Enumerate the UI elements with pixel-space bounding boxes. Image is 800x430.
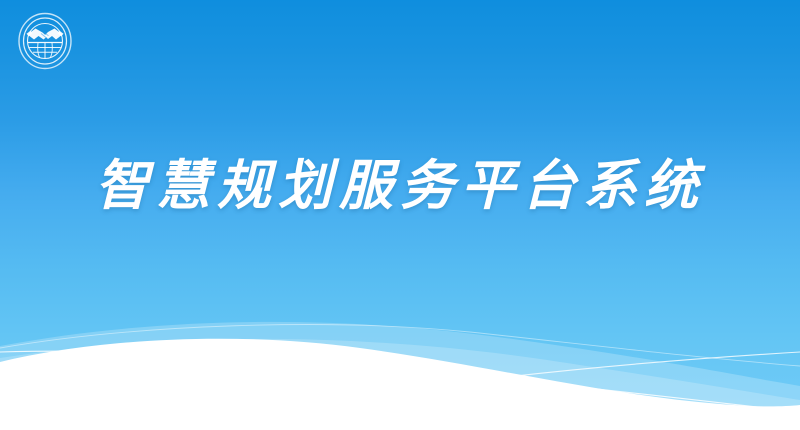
logo-svg <box>17 12 73 70</box>
wave-svg <box>0 300 800 430</box>
wave-decoration <box>0 300 800 430</box>
logo-globe-meridian-right <box>50 43 52 58</box>
slide-title: 智慧规划服务平台系统 <box>0 152 800 218</box>
logo-outer-ring <box>19 14 71 69</box>
handshake-globe-emblem-logo <box>17 12 73 70</box>
logo-globe-meridian-left <box>38 43 40 58</box>
title-slide: 智慧规划服务平台系统 <box>0 0 800 430</box>
